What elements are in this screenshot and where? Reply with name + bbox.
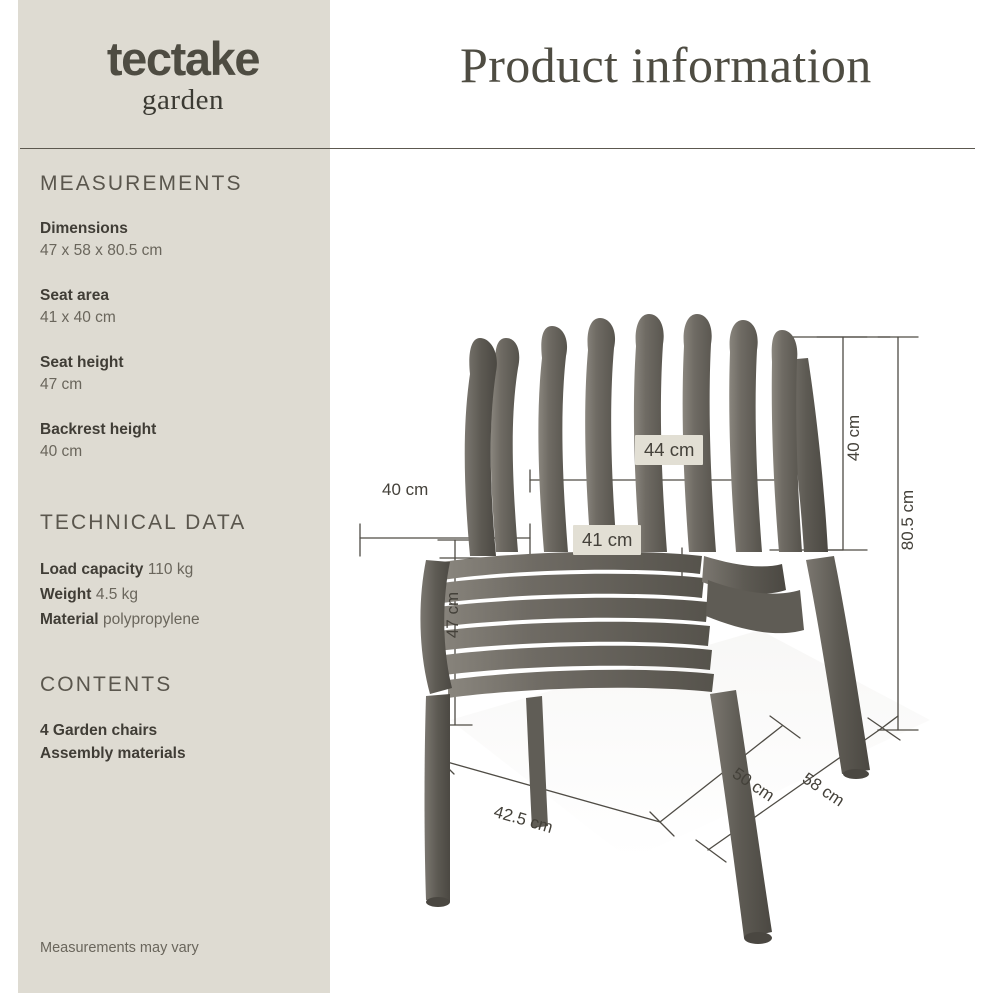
technical-data-list: Load capacity 110 kg Weight 4.5 kg Mater…	[40, 558, 200, 632]
tech-label: Material	[40, 611, 99, 628]
measurement-label: Seat height	[40, 352, 124, 374]
product-diagram: 40 cm 80.5 cm 47 cm 44 cm 40 cm 41 cm 42…	[330, 160, 1000, 1000]
measurement-label: Backrest height	[40, 419, 156, 441]
dimension-label-seat-height: 47 cm	[443, 580, 463, 650]
brand-sub-name: garden	[63, 86, 303, 115]
dimension-label-seat-width: 41 cm	[573, 525, 641, 555]
page-title: Product information	[460, 36, 872, 94]
footnote: Measurements may vary	[40, 940, 199, 956]
measurement-value: 41 x 40 cm	[40, 307, 116, 329]
brand-name: tectake	[63, 35, 303, 82]
measurement-value: 47 x 58 x 80.5 cm	[40, 240, 162, 262]
chair-illustration	[330, 160, 1000, 1000]
dimension-label-backrest-height: 40 cm	[844, 403, 864, 473]
measurement-seat-area: Seat area 41 x 40 cm	[40, 285, 116, 330]
dimension-label-backrest-width: 44 cm	[635, 435, 703, 465]
tech-value: 4.5 kg	[96, 586, 138, 603]
contents-list: 4 Garden chairs Assembly materials	[40, 719, 186, 766]
brand-logo: tectake garden	[63, 35, 303, 115]
tech-label: Weight	[40, 586, 91, 603]
tech-value: 110 kg	[148, 561, 193, 578]
tech-row-material: Material polypropylene	[40, 608, 200, 633]
measurement-value: 47 cm	[40, 374, 124, 396]
measurement-backrest-height: Backrest height 40 cm	[40, 419, 156, 464]
header-divider	[20, 148, 975, 149]
measurement-seat-height: Seat height 47 cm	[40, 352, 124, 397]
measurement-label: Seat area	[40, 285, 116, 307]
section-heading-contents: CONTENTS	[40, 673, 172, 697]
measurement-value: 40 cm	[40, 441, 156, 463]
dimension-label-seat-depth: 40 cm	[382, 480, 428, 500]
contents-item: Assembly materials	[40, 742, 186, 765]
measurement-label: Dimensions	[40, 218, 162, 240]
measurement-dimensions: Dimensions 47 x 58 x 80.5 cm	[40, 218, 162, 263]
dimension-label-total-height: 80.5 cm	[898, 475, 918, 565]
tech-row-weight: Weight 4.5 kg	[40, 583, 200, 608]
tech-label: Load capacity	[40, 561, 143, 578]
contents-item: 4 Garden chairs	[40, 719, 186, 742]
section-heading-measurements: MEASUREMENTS	[40, 172, 243, 196]
section-heading-technical-data: TECHNICAL DATA	[40, 511, 246, 535]
product-info-sheet: tectake garden MEASUREMENTS Dimensions 4…	[0, 0, 1000, 1000]
tech-value: polypropylene	[103, 611, 200, 628]
tech-row-load-capacity: Load capacity 110 kg	[40, 558, 200, 583]
